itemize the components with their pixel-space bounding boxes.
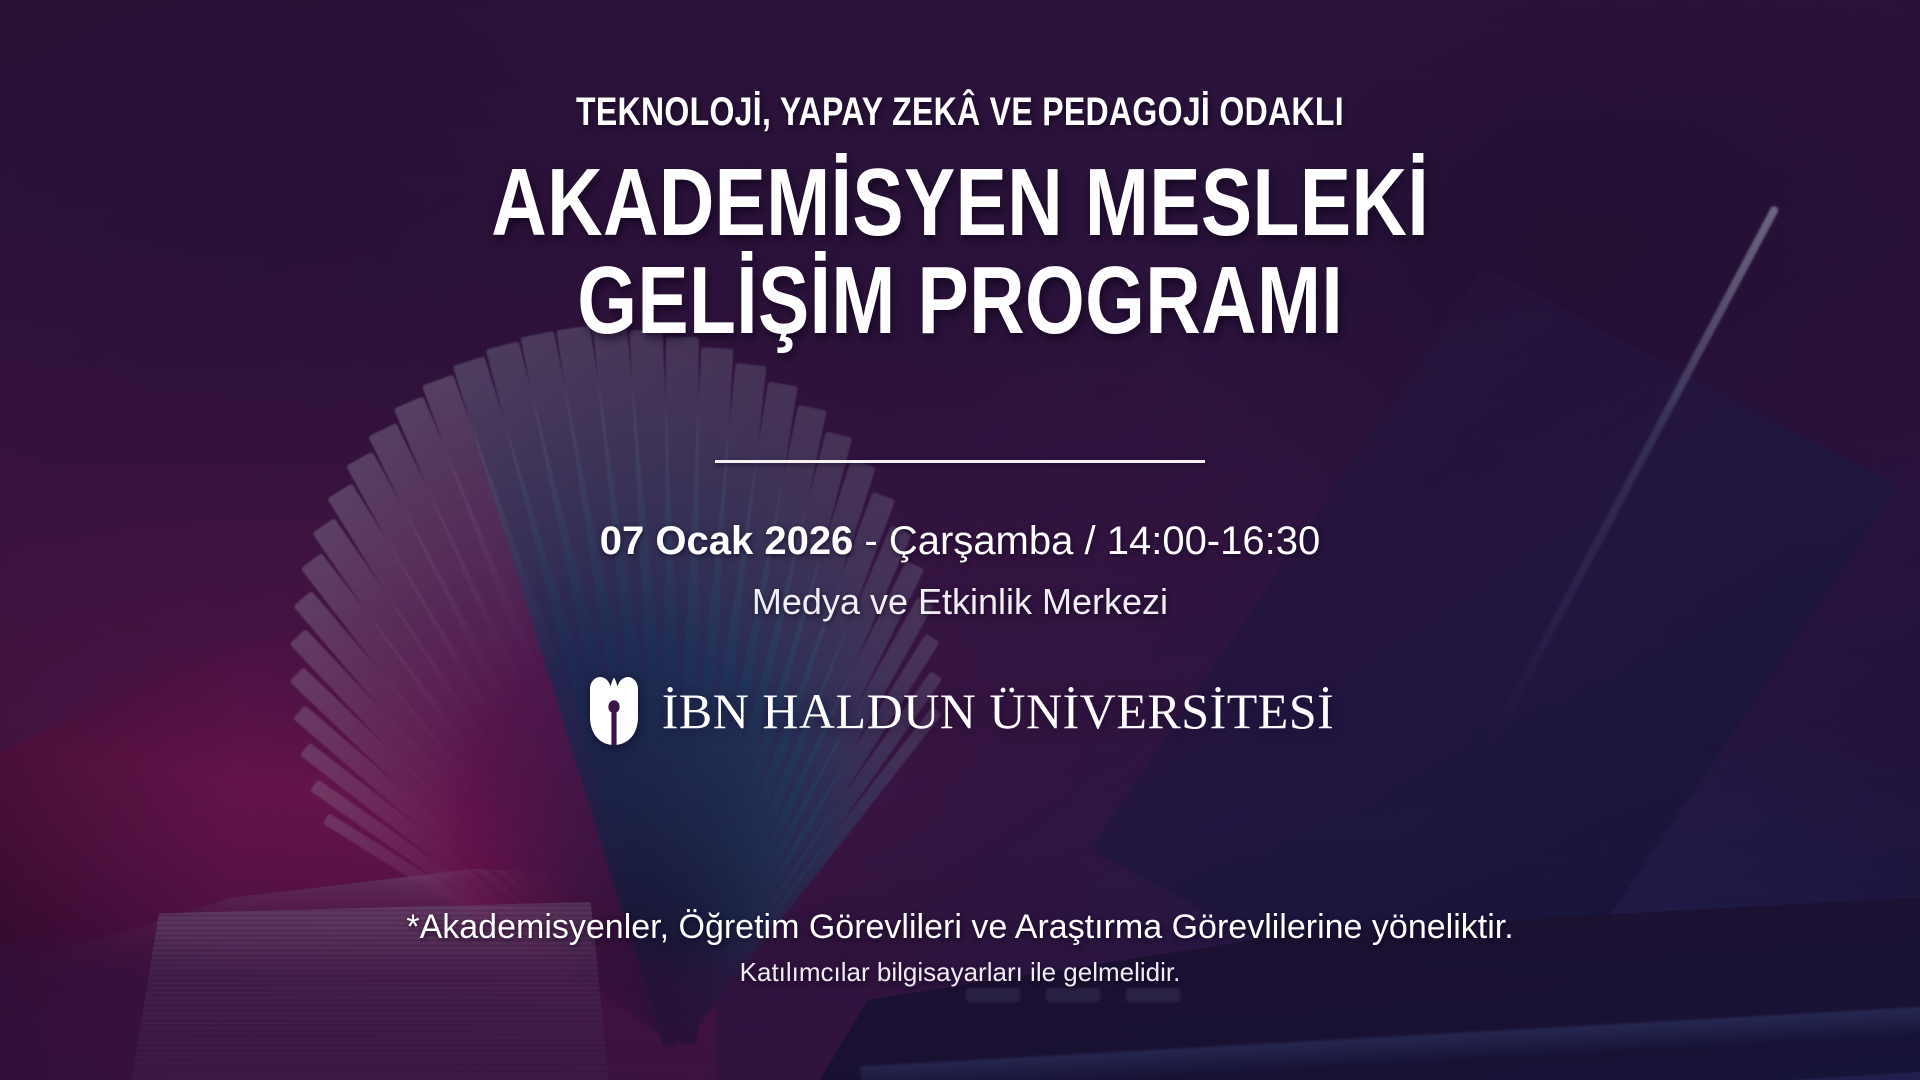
event-poster: TEKNOLOJİ, YAPAY ZEKÂ VE PEDAGOJİ ODAKLI… xyxy=(0,0,1920,1080)
event-date: 07 Ocak 2026 xyxy=(600,519,854,563)
poster-content: TEKNOLOJİ, YAPAY ZEKÂ VE PEDAGOJİ ODAKLI… xyxy=(0,0,1920,1080)
page-title: AKADEMİSYEN MESLEKİ GELİŞİM PROGRAMI xyxy=(491,154,1429,350)
university-brand: İBN HALDUN ÜNİVERSİTESİ xyxy=(586,673,1335,749)
page-title-line-2: GELİŞİM PROGRAMI xyxy=(491,252,1429,350)
footnote-requirement: Katılımcılar bilgisayarları ile gelmelid… xyxy=(0,957,1920,988)
event-day-and-time: Çarşamba / 14:00-16:30 xyxy=(889,519,1320,563)
event-venue: Medya ve Etkinlik Merkezi xyxy=(600,576,1320,627)
event-separator: - xyxy=(853,519,889,563)
poster-footnotes: *Akademisyenler, Öğretim Görevlileri ve … xyxy=(0,908,1920,988)
title-divider xyxy=(715,460,1205,463)
event-datetime: 07 Ocak 2026 - Çarşamba / 14:00-16:30 xyxy=(600,513,1320,570)
page-title-line-1: AKADEMİSYEN MESLEKİ xyxy=(491,154,1429,252)
university-name: İBN HALDUN ÜNİVERSİTESİ xyxy=(662,682,1335,740)
poster-eyebrow: TEKNOLOJİ, YAPAY ZEKÂ VE PEDAGOJİ ODAKLI xyxy=(576,92,1344,132)
event-details: 07 Ocak 2026 - Çarşamba / 14:00-16:30 Me… xyxy=(600,513,1320,627)
footnote-audience: *Akademisyenler, Öğretim Görevlileri ve … xyxy=(0,908,1920,947)
tulip-logo-icon xyxy=(586,673,642,749)
